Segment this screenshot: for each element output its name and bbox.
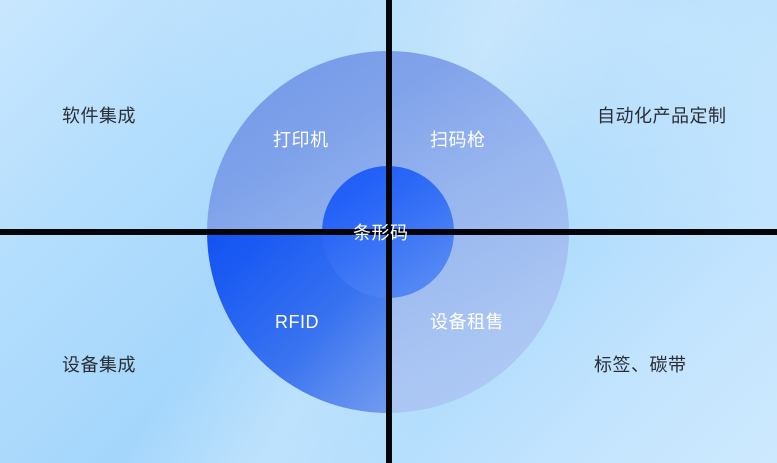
- center-label: 条形码: [353, 224, 409, 242]
- outer-label-bottom-left: 设备集成: [62, 356, 136, 374]
- outer-label-bottom-right: 标签、碳带: [594, 356, 687, 374]
- ring-label-bottom-left: RFID: [275, 313, 319, 331]
- ring-label-top-left: 打印机: [273, 131, 329, 149]
- ring-label-top-right: 扫码枪: [430, 131, 486, 149]
- outer-label-top-left: 软件集成: [62, 107, 136, 125]
- diagram-canvas: 软件集成 自动化产品定制 设备集成 标签、碳带 打印机 扫码枪 RFID 设备租…: [0, 0, 777, 463]
- ring-label-bottom-right: 设备租售: [430, 313, 504, 331]
- outer-label-top-right: 自动化产品定制: [597, 107, 727, 125]
